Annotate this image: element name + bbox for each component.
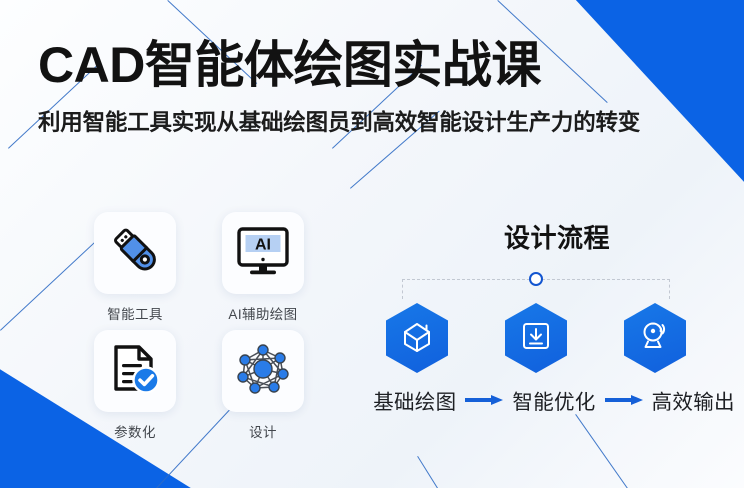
cube-box-icon — [401, 320, 433, 357]
feature-label: 智能工具 — [94, 303, 176, 323]
document-download-icon — [521, 321, 551, 356]
feature-label: 设计 — [222, 421, 304, 441]
feature-card — [94, 212, 176, 294]
flow-hexagon-row — [386, 303, 686, 373]
feature-grid: 智能工具 AI AI辅助绘图 — [94, 212, 304, 436]
svg-text:AI: AI — [255, 236, 271, 253]
pen-icon — [108, 224, 162, 283]
circle-node-icon — [529, 272, 543, 286]
arrow-right-icon — [465, 395, 503, 405]
page-title: CAD智能体绘图实战课 — [38, 40, 706, 91]
arrow-right-icon — [605, 395, 643, 405]
feature-item-smart-tools[interactable]: 智能工具 — [94, 212, 176, 318]
design-flow-panel: 设计流程 — [360, 218, 730, 415]
ai-monitor-icon: AI — [235, 224, 291, 283]
document-check-icon — [108, 342, 162, 401]
location-signal-icon — [639, 320, 671, 357]
diagonal-line-5 — [0, 229, 109, 331]
connector-leg-left — [402, 279, 403, 299]
flow-step-icon-basic-drawing[interactable] — [386, 303, 448, 373]
page-subtitle: 利用智能工具实现从基础绘图员到高效智能设计生产力的转变 — [38, 105, 706, 137]
feature-item-parametric[interactable]: 参数化 — [94, 330, 176, 436]
flow-connector-bracket — [402, 273, 670, 299]
feature-card — [222, 330, 304, 412]
network-nodes-icon — [235, 341, 291, 402]
diagonal-line-8 — [575, 414, 639, 488]
diagonal-line-9 — [417, 456, 449, 488]
flow-step-icon-smart-optimize[interactable] — [505, 303, 567, 373]
poster-header: CAD智能体绘图实战课 利用智能工具实现从基础绘图员到高效智能设计生产力的转变 — [38, 40, 706, 137]
poster-canvas: CAD智能体绘图实战课 利用智能工具实现从基础绘图员到高效智能设计生产力的转变 — [0, 0, 744, 488]
feature-card — [94, 330, 176, 412]
flow-step-label-smart-optimize: 智能优化 — [512, 385, 595, 415]
flow-title: 设计流程 — [384, 218, 730, 255]
feature-card: AI — [222, 212, 304, 294]
flow-step-labels: 基础绘图 智能优化 高效输出 — [378, 385, 730, 415]
feature-item-design[interactable]: 设计 — [222, 330, 304, 436]
flow-step-icon-efficient-output[interactable] — [624, 303, 686, 373]
feature-label: AI辅助绘图 — [222, 303, 304, 323]
connector-leg-right — [669, 279, 670, 299]
flow-step-label-basic-drawing: 基础绘图 — [373, 385, 456, 415]
feature-label: 参数化 — [94, 421, 176, 441]
flow-step-label-efficient-output: 高效输出 — [652, 385, 735, 415]
feature-item-ai-drawing[interactable]: AI AI辅助绘图 — [222, 212, 304, 318]
